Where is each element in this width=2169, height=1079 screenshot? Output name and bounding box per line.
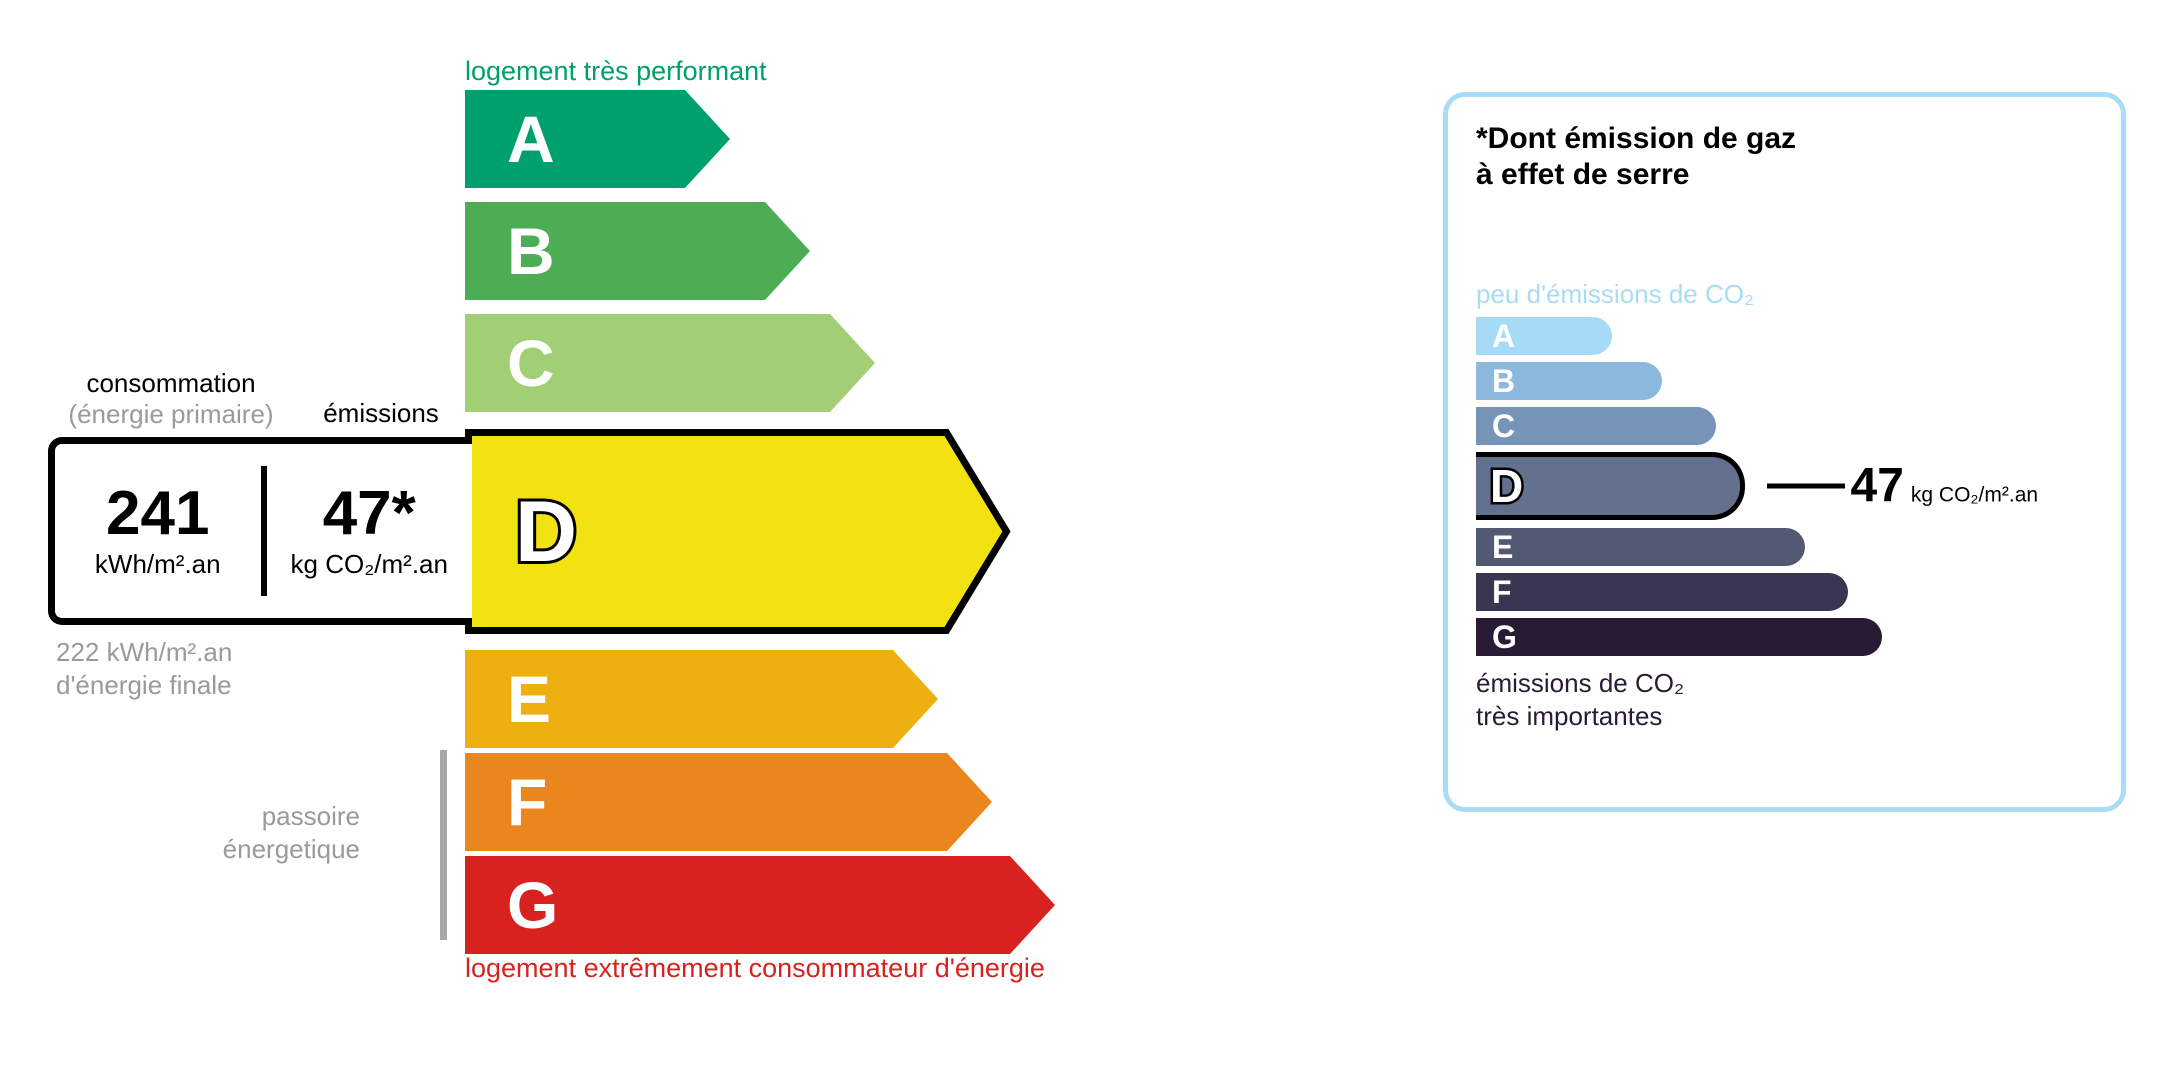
energy-band-b[interactable]: B <box>465 202 810 300</box>
ges-bottom-line2: très importantes <box>1476 700 1684 733</box>
ges-title-line2: à effet de serre <box>1476 157 1796 193</box>
ges-bar-a-letter: A <box>1492 320 1515 352</box>
ges-value-unit: kg CO₂/m².an <box>1911 484 2038 507</box>
passoire-label: passoire énergetique <box>190 800 360 865</box>
consumption-label-sub: (énergie primaire) <box>48 399 294 430</box>
energy-band-d-letter: D <box>515 489 577 575</box>
ges-panel: *Dont émission de gaz à effet de serre p… <box>1443 92 2126 812</box>
ges-bottom-line1: émissions de CO₂ <box>1476 667 1684 700</box>
ges-bar-g-letter: G <box>1492 621 1517 653</box>
scale-bottom-caption: logement extrêmement consommateur d'éner… <box>465 953 1045 984</box>
ges-bar-d-selected[interactable]: D <box>1476 452 1745 520</box>
passoire-line2: énergetique <box>190 833 360 866</box>
passoire-line1: passoire <box>190 800 360 833</box>
value-box: 241 kWh/m².an 47* kg CO₂/m².an <box>48 437 472 625</box>
ges-value-number: 47 <box>1851 460 1904 513</box>
ges-title-line1: *Dont émission de gaz <box>1476 121 1796 157</box>
energy-band-a-letter: A <box>507 106 555 172</box>
ges-bar-a[interactable]: A <box>1476 317 1612 355</box>
energy-band-f[interactable]: F <box>465 753 992 851</box>
scale-top-caption: logement très performant <box>465 56 767 87</box>
consumption-value-unit: kWh/m².an <box>95 549 221 580</box>
energy-band-c[interactable]: C <box>465 314 875 412</box>
energy-band-e[interactable]: E <box>465 650 938 748</box>
ges-top-caption: peu d'émissions de CO₂ <box>1476 279 1754 310</box>
final-energy-line1: 222 kWh/m².an <box>56 636 232 669</box>
consumption-value: 241 <box>106 483 209 545</box>
energy-band-a[interactable]: A <box>465 90 730 188</box>
ges-bar-f[interactable]: F <box>1476 573 1848 611</box>
emission-value: 47* <box>323 483 416 545</box>
consumption-label-main: consommation <box>86 368 255 398</box>
energy-band-c-letter: C <box>507 330 555 396</box>
energy-band-b-letter: B <box>507 218 555 284</box>
ges-value-leader-line <box>1767 484 1845 489</box>
ges-bottom-caption: émissions de CO₂ très importantes <box>1476 667 1684 732</box>
energy-performance-scale: logement très performant A B C D E F G l… <box>0 0 1400 1079</box>
final-energy-note: 222 kWh/m².an d'énergie finale <box>56 636 232 701</box>
ges-bar-list: ABCD47kg CO₂/m².anEFG <box>1476 317 1882 663</box>
emissions-label: émissions <box>296 398 466 429</box>
ges-bar-e[interactable]: E <box>1476 528 1805 566</box>
ges-bar-g[interactable]: G <box>1476 618 1882 656</box>
ges-value: 47kg CO₂/m².an <box>1851 459 2039 514</box>
energy-band-a-shape <box>465 90 730 188</box>
ges-bar-c-letter: C <box>1492 410 1515 442</box>
emission-value-cell: 47* kg CO₂/m².an <box>267 483 473 580</box>
consumption-value-cell: 241 kWh/m².an <box>55 483 261 580</box>
passoire-bracket <box>440 750 447 940</box>
final-energy-line2: d'énergie finale <box>56 669 232 702</box>
energy-band-g[interactable]: G <box>465 856 1055 954</box>
ges-panel-title: *Dont émission de gaz à effet de serre <box>1476 121 1796 193</box>
energy-band-d-selected[interactable]: D <box>465 429 1017 634</box>
ges-bar-f-letter: F <box>1492 576 1512 608</box>
consumption-label: consommation (énergie primaire) <box>48 368 294 430</box>
ges-bar-b-letter: B <box>1492 365 1515 397</box>
ges-bar-c[interactable]: C <box>1476 407 1716 445</box>
energy-band-g-letter: G <box>507 872 558 938</box>
ges-bar-d-letter: D <box>1490 463 1523 509</box>
energy-band-f-letter: F <box>507 769 547 835</box>
emission-value-unit: kg CO₂/m².an <box>291 549 448 580</box>
ges-bar-b[interactable]: B <box>1476 362 1662 400</box>
ges-bar-e-letter: E <box>1492 531 1513 563</box>
energy-band-e-letter: E <box>507 666 551 732</box>
